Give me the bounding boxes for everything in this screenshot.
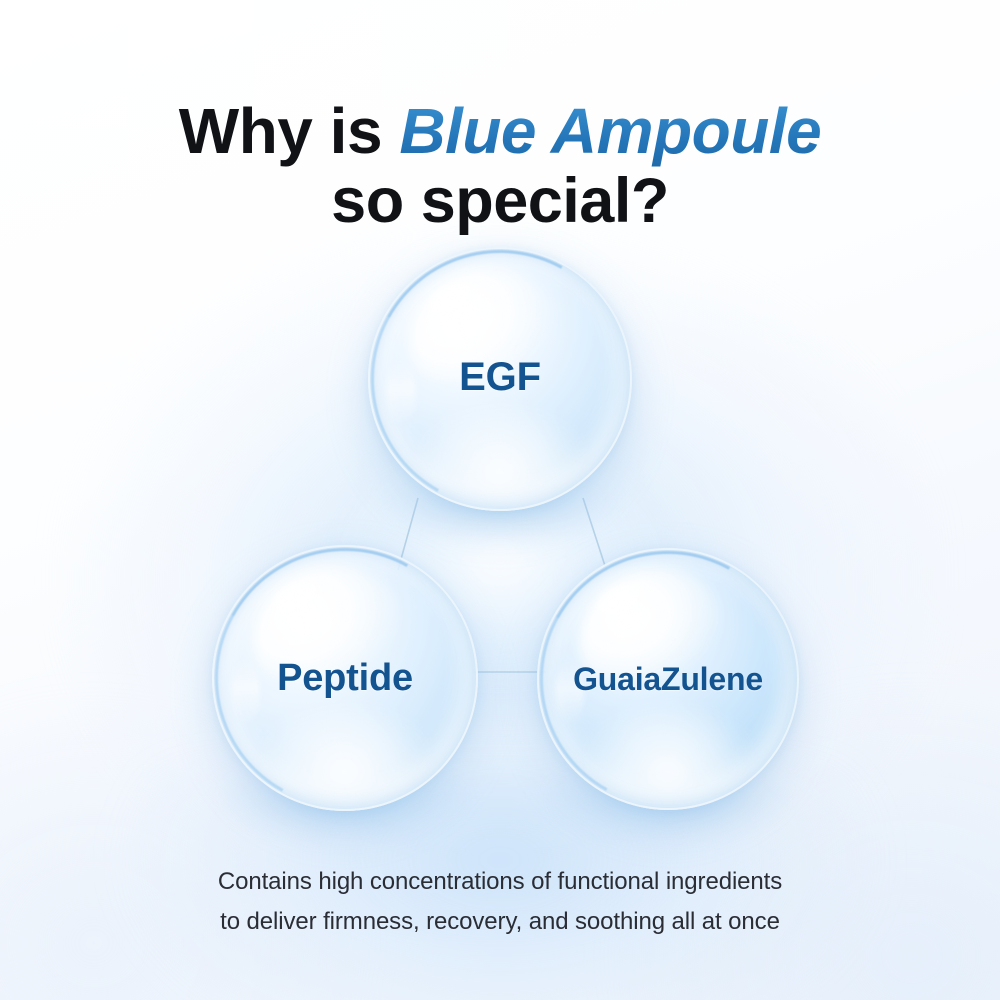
caption-line-2: to deliver firmness, recovery, and sooth…	[0, 902, 1000, 942]
sphere-label-guaiazulene: GuaiaZulene	[537, 548, 799, 810]
title-accent-text: Blue Ampoule	[399, 95, 821, 167]
infographic-canvas: Why is Blue Ampoule so special? EGF	[0, 0, 1000, 1000]
caption-text: Contains high concentrations of function…	[0, 862, 1000, 942]
title-line-1: Why is Blue Ampoule	[0, 99, 1000, 165]
caption-line-1: Contains high concentrations of function…	[0, 862, 1000, 902]
sphere-label-peptide: Peptide	[212, 545, 478, 811]
ingredient-sphere-guaiazulene[interactable]: GuaiaZulene	[537, 548, 799, 810]
page-title: Why is Blue Ampoule so special?	[0, 99, 1000, 234]
ingredient-sphere-peptide[interactable]: Peptide	[212, 545, 478, 811]
title-line-2: so special?	[0, 169, 1000, 234]
sphere-label-egf: EGF	[368, 243, 632, 511]
ingredient-sphere-egf[interactable]: EGF	[368, 247, 632, 511]
title-plain-text: Why is	[179, 95, 400, 167]
